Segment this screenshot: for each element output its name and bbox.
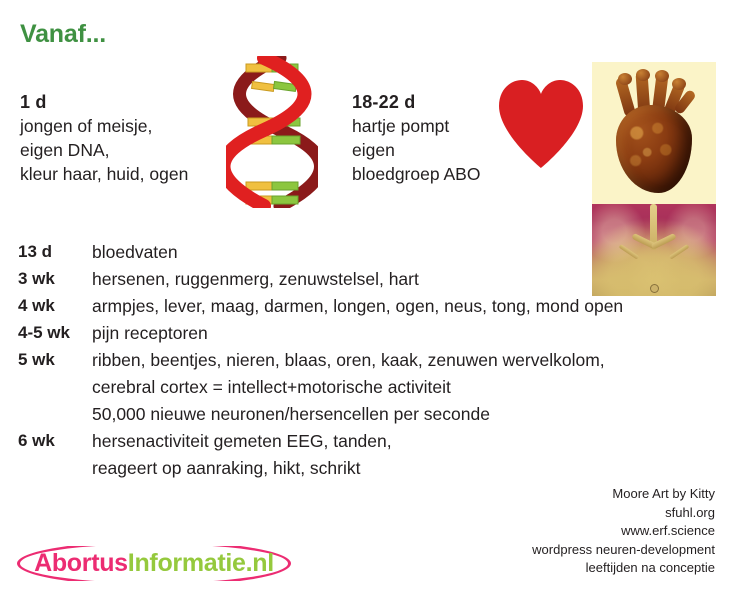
credit-line: leeftijden na conceptie [532, 559, 715, 578]
timeline-detail: bloedvaten [92, 242, 623, 263]
timeline-detail: 50,000 nieuwe neuronen/hersencellen per … [92, 404, 623, 425]
page-title: Vanaf... [20, 20, 106, 49]
list-item: 3 wk hersenen, ruggenmerg, zenuwstelsel,… [18, 269, 623, 296]
timeline-age: 6 wk [18, 431, 92, 451]
top-entry-2-line-1: hartje pompt [352, 114, 480, 138]
top-entry-2-line-2: eigen [352, 138, 480, 162]
timeline-age: 4-5 wk [18, 323, 92, 343]
timeline-detail: pijn receptoren [92, 323, 623, 344]
timeline-detail: cerebral cortex = intellect+motorische a… [92, 377, 623, 398]
timeline-age: 3 wk [18, 269, 92, 289]
logo-word-abortus: Abortus [34, 548, 128, 576]
timeline-age: 5 wk [18, 350, 92, 370]
list-item: 13 d bloedvaten [18, 242, 623, 269]
timeline-detail: hersenactiviteit gemeten EEG, tanden, [92, 431, 623, 452]
timeline-age: 13 d [18, 242, 92, 262]
credit-line: wordpress neuren-development [532, 541, 715, 560]
list-item: reageert op aanraking, hikt, schrikt [18, 458, 623, 485]
top-entry-1-line-2: eigen DNA, [20, 138, 188, 162]
timeline-age: 4 wk [18, 296, 92, 316]
top-entry-1-heading: 1 d [20, 90, 188, 114]
poster-canvas: Vanaf... 1 d jongen of meisje, eigen DNA… [0, 0, 733, 610]
list-item: 50,000 nieuwe neuronen/hersencellen per … [18, 404, 623, 431]
anatomical-heart-photo [592, 62, 716, 204]
abortusinformatie-logo[interactable]: AbortusInformatie.nl [17, 541, 291, 586]
timeline-detail: armpjes, lever, maag, darmen, longen, og… [92, 296, 623, 317]
development-timeline-list: 13 d bloedvaten 3 wk hersenen, ruggenmer… [18, 242, 623, 485]
credit-line: www.erf.science [532, 522, 715, 541]
watermark-dot [650, 284, 659, 293]
dna-helix-icon [226, 56, 318, 208]
credit-line: sfuhl.org [532, 504, 715, 523]
top-entry-2-line-3: bloedgroep ABO [352, 162, 480, 186]
top-entry-2: 18-22 d hartje pompt eigen bloedgroep AB… [352, 90, 480, 186]
heart-icon [497, 78, 585, 170]
top-entry-1: 1 d jongen of meisje, eigen DNA, kleur h… [20, 90, 188, 186]
list-item: 6 wk hersenactiviteit gemeten EEG, tande… [18, 431, 623, 458]
list-item: cerebral cortex = intellect+motorische a… [18, 377, 623, 404]
list-item: 4-5 wk pijn receptoren [18, 323, 623, 350]
logo-bracket-mask-bottom [43, 581, 265, 590]
top-entry-1-line-3: kleur haar, huid, ogen [20, 162, 188, 186]
logo-wordmark: AbortusInformatie.nl [17, 548, 291, 577]
credits-block: Moore Art by Kitty sfuhl.org www.erf.sci… [532, 485, 715, 578]
logo-bracket-mask-top [43, 537, 265, 546]
anatomical-heart-illustration [606, 69, 702, 197]
top-entry-1-line-1: jongen of meisje, [20, 114, 188, 138]
credit-line: Moore Art by Kitty [532, 485, 715, 504]
logo-word-informatie: Informatie.nl [128, 548, 274, 576]
list-item: 4 wk armpjes, lever, maag, darmen, longe… [18, 296, 623, 323]
timeline-detail: hersenen, ruggenmerg, zenuwstelsel, hart [92, 269, 623, 290]
timeline-detail: reageert op aanraking, hikt, schrikt [92, 458, 623, 479]
list-item: 5 wk ribben, beentjes, nieren, blaas, or… [18, 350, 623, 377]
timeline-detail: ribben, beentjes, nieren, blaas, oren, k… [92, 350, 623, 371]
top-entry-2-heading: 18-22 d [352, 90, 480, 114]
